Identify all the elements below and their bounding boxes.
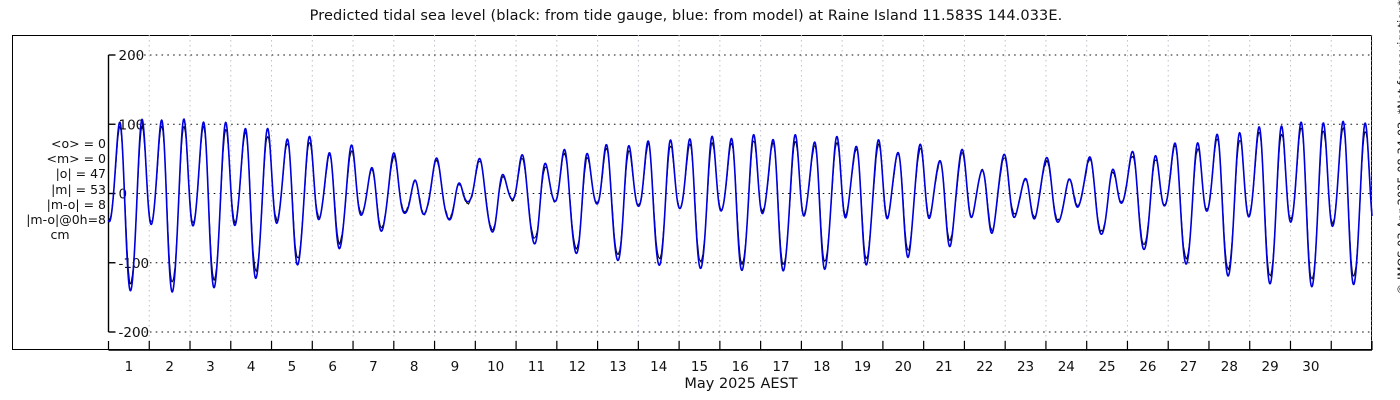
x-tick-label-2: 2 [165,359,174,375]
credit-label: © IMOS 03-Apr-2025 08:34:02. *Not for na… [1395,0,1400,396]
x-tick-label-22: 22 [976,359,993,375]
statistics-block: <o> = 0<m> = 0|o| = 47|m| = 53|m-o| = 8|… [14,136,106,242]
x-tick-label-23: 23 [1017,359,1034,375]
x-tick-label-7: 7 [369,359,378,375]
tidal-chart-page: Predicted tidal sea level (black: from t… [0,0,1400,400]
x-tick-label-10: 10 [487,359,504,375]
x-tick-label-27: 27 [1180,359,1197,375]
x-tick-label-30: 30 [1302,359,1319,375]
y-tick-label--200: -200 [119,325,150,341]
statistic-line-3: |m| = 53 [14,182,106,197]
credit-text: © IMOS 03-Apr-2025 08:34:02. *Not for na… [1381,0,1399,400]
x-tick-label-13: 13 [609,359,626,375]
x-tick-label-14: 14 [650,359,667,375]
x-tick-label-8: 8 [410,359,419,375]
x-tick-label-29: 29 [1262,359,1279,375]
statistic-line-2: |o| = 47 [14,166,106,181]
x-tick-label-3: 3 [206,359,215,375]
statistic-line-0: <o> = 0 [14,136,106,151]
x-tick-label-11: 11 [528,359,545,375]
x-axis-title: May 2025 AEST [110,376,1372,392]
x-tick-label-16: 16 [732,359,749,375]
y-tick-label-200: 200 [119,48,145,64]
x-tick-label-26: 26 [1139,359,1156,375]
x-tick-label-17: 17 [772,359,789,375]
y-tick-label-0: 0 [119,187,128,203]
x-tick-label-5: 5 [288,359,297,375]
x-tick-label-28: 28 [1221,359,1238,375]
model-tide-line [109,119,1373,292]
x-tick-label-19: 19 [854,359,871,375]
x-tick-label-20: 20 [895,359,912,375]
series-model [109,119,1373,292]
x-tick-label-21: 21 [935,359,952,375]
x-tick-label-1: 1 [125,359,134,375]
x-tick-label-6: 6 [328,359,337,375]
statistic-line-5: |m-o|@0h=8 [14,212,106,227]
x-tick-label-18: 18 [813,359,830,375]
tidal-plot: 2001000-100-200 123456789101112131415161… [0,0,1400,400]
x-tick-label-24: 24 [1058,359,1075,375]
x-tick-label-25: 25 [1098,359,1115,375]
x-tick-label-4: 4 [247,359,256,375]
y-axis: 2001000-100-200 [109,48,150,341]
x-axis: 1234567891011121314151617181920212223242… [109,341,1373,375]
statistic-line-4: |m-o| = 8 [14,197,106,212]
horizontal-gridlines [133,55,1371,332]
statistics-units: cm [14,227,106,242]
x-tick-label-12: 12 [569,359,586,375]
x-tick-label-9: 9 [451,359,460,375]
x-tick-label-15: 15 [691,359,708,375]
vertical-gridlines [149,35,1372,350]
statistic-line-1: <m> = 0 [14,151,106,166]
